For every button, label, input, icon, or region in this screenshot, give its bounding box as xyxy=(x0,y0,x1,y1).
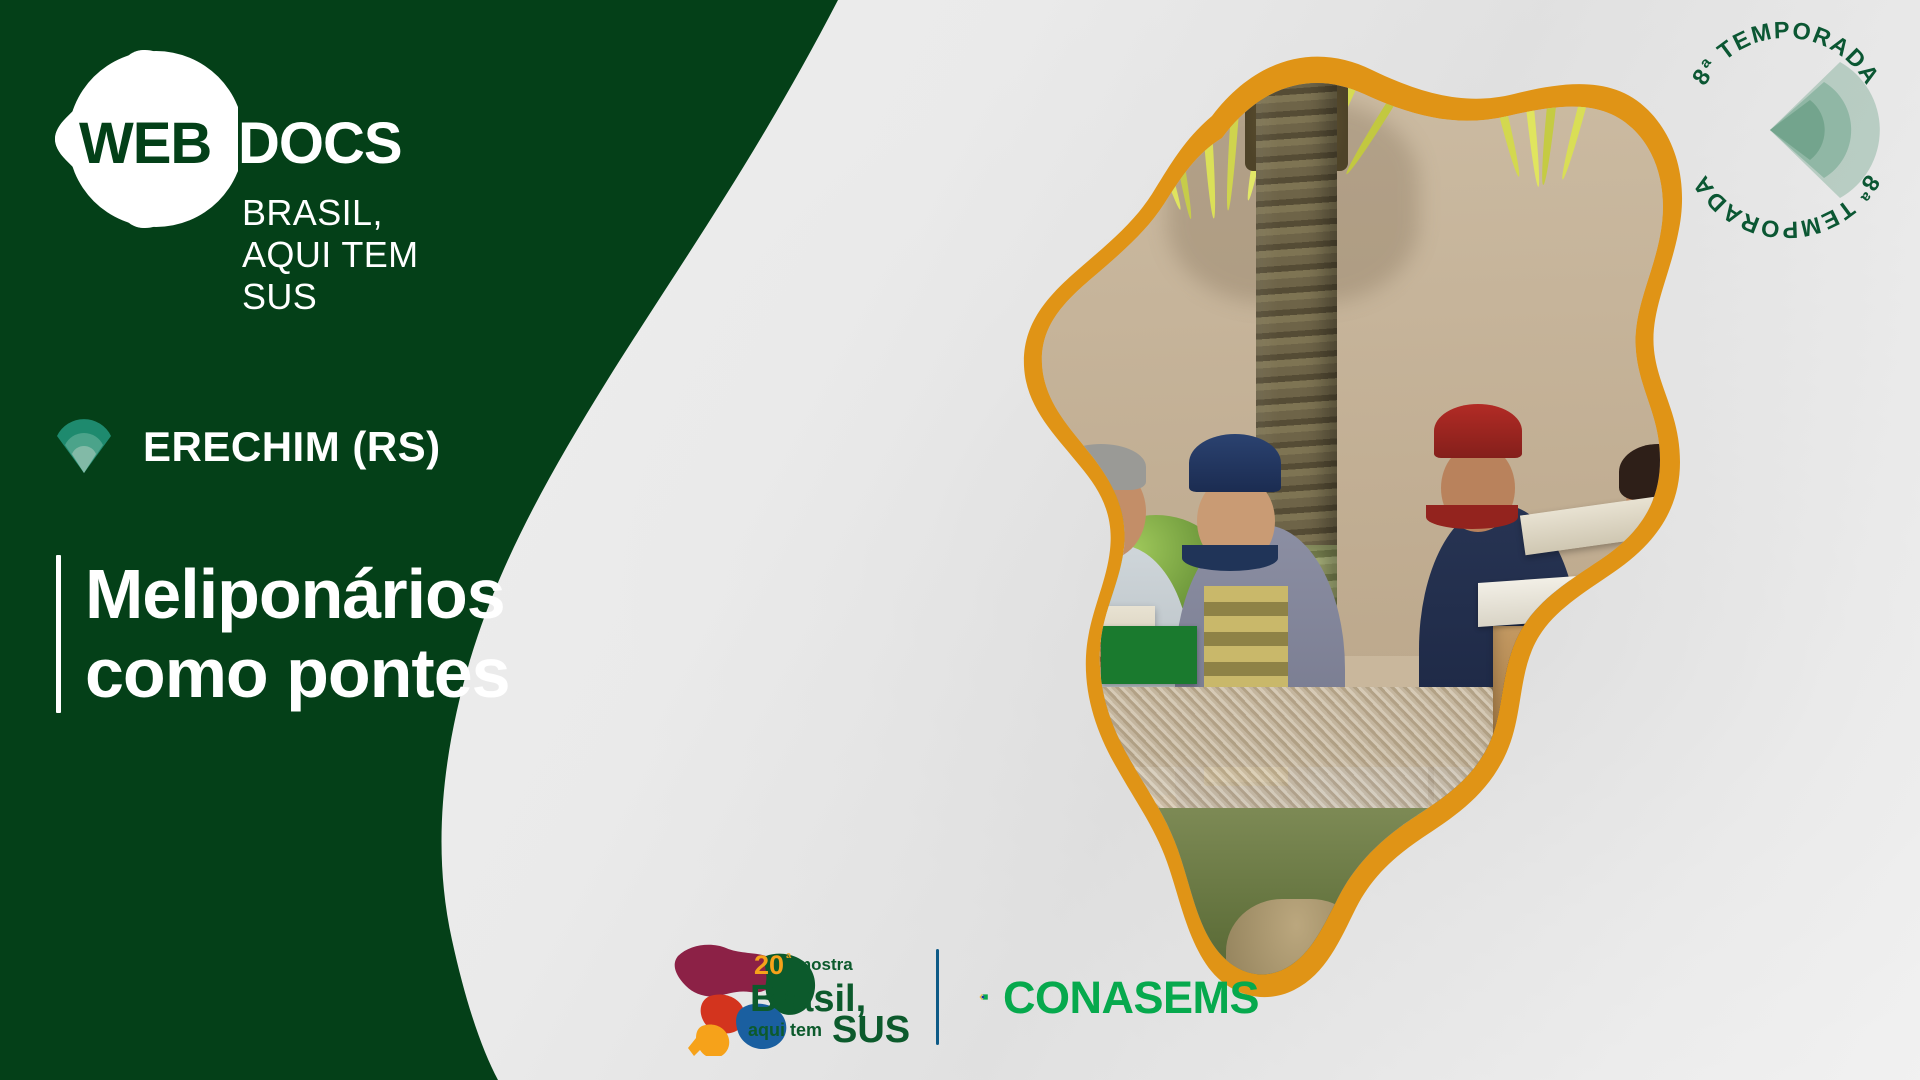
brand-tagline: BRASIL, AQUI TEM SUS xyxy=(242,192,419,318)
scene-green-sign xyxy=(1101,626,1197,684)
mostra-sus-logo: 20 ª mostra Brasil, aqui tem SUS xyxy=(650,938,910,1056)
conasems-wordmark: CONASEMS xyxy=(1003,975,1259,1020)
fan-signal-icon xyxy=(55,418,113,476)
logo-word-web: WEB xyxy=(79,115,211,173)
logo-word-docs: DOCS xyxy=(238,115,402,173)
headline-line-1: Meliponários xyxy=(85,555,510,634)
footer-divider xyxy=(936,949,939,1045)
headline-accent-bar xyxy=(56,555,61,713)
svg-text:20: 20 xyxy=(754,950,784,980)
conasems-arrow-icon xyxy=(979,967,989,1027)
location-label: ERECHIM (RS) xyxy=(143,423,441,471)
scene-person-4-cap xyxy=(1434,404,1522,458)
svg-text:SUS: SUS xyxy=(832,1009,910,1051)
brand-logo: WEB DOCS BRASIL, AQUI TEM SUS xyxy=(52,40,572,330)
headline-block: Meliponários como pontes xyxy=(56,555,510,713)
svg-text:mostra: mostra xyxy=(796,955,853,974)
footer-logos: 20 ª mostra Brasil, aqui tem SUS CONASEM… xyxy=(650,932,1310,1062)
svg-text:aqui tem: aqui tem xyxy=(748,1020,822,1040)
headline-line-2: como pontes xyxy=(85,634,510,713)
poster-canvas: WEB DOCS BRASIL, AQUI TEM SUS ERECHIM (R… xyxy=(0,0,1920,1080)
location-row: ERECHIM (RS) xyxy=(55,418,441,476)
tagline-line-2: AQUI TEM xyxy=(242,234,419,276)
season-badge: 8ª TEMPORADA 8ª TEMPORADA xyxy=(1672,16,1900,244)
scene-person-4-cap-brim xyxy=(1426,505,1518,529)
headline-text: Meliponários como pontes xyxy=(85,555,510,713)
brazil-photo xyxy=(960,20,1700,1030)
svg-text:ª: ª xyxy=(786,950,792,966)
scene-person-3-cap-brim xyxy=(1182,545,1278,571)
tagline-line-1: BRASIL, xyxy=(242,192,419,234)
mostra-wordmark: 20 ª mostra Brasil, aqui tem SUS xyxy=(748,950,910,1051)
tagline-line-3: SUS xyxy=(242,276,419,318)
scene-person-3-cap xyxy=(1189,434,1281,492)
conasems-logo: CONASEMS xyxy=(979,960,1259,1034)
